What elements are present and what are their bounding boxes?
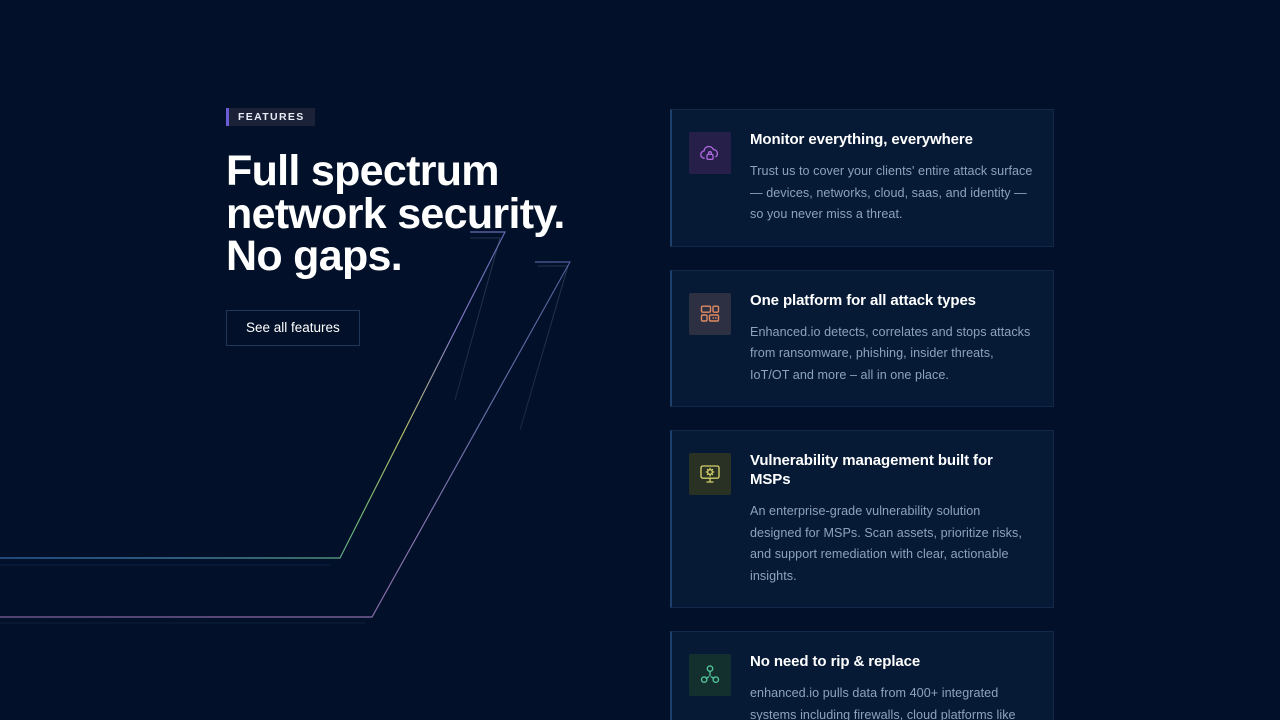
card-body: Vulnerability management built for MSPs … [750,451,1035,587]
card-icon-container [689,132,731,174]
card-description: enhanced.io pulls data from 400+ integra… [750,683,1035,720]
page-title: Full spectrum network security. No gaps. [226,150,626,278]
features-eyebrow-badge: FEATURES [226,108,315,126]
see-all-features-button[interactable]: See all features [226,310,360,347]
card-body: One platform for all attack types Enhanc… [750,291,1035,387]
network-nodes-icon [698,663,722,687]
card-title: One platform for all attack types [750,291,1035,310]
monitor-gear-icon [698,462,722,486]
card-icon-container [689,293,731,335]
cloud-lock-icon [698,141,722,165]
card-icon-container [689,654,731,696]
features-page: FEATURES Full spectrum network security.… [0,0,1280,720]
eyebrow-accent-bar [226,108,229,126]
card-title: Vulnerability management built for MSPs [750,451,1035,489]
eyebrow-label: FEATURES [238,108,305,126]
chevron-arrow-lines-decoration [0,0,1280,720]
feature-cards-list: Monitor everything, everywhere Trust us … [670,109,1054,720]
card-body: No need to rip & replace enhanced.io pul… [750,652,1035,720]
feature-card-no-rip-replace[interactable]: No need to rip & replace enhanced.io pul… [670,631,1054,720]
card-icon-container [689,453,731,495]
hero-column: FEATURES Full spectrum network security.… [226,108,626,346]
feature-card-one-platform[interactable]: One platform for all attack types Enhanc… [670,270,1054,408]
card-title: No need to rip & replace [750,652,1035,671]
feature-card-vulnerability-management[interactable]: Vulnerability management built for MSPs … [670,430,1054,608]
card-title: Monitor everything, everywhere [750,130,1035,149]
card-description: An enterprise-grade vulnerability soluti… [750,501,1035,587]
card-description: Trust us to cover your clients' entire a… [750,161,1035,226]
feature-card-monitor-everything[interactable]: Monitor everything, everywhere Trust us … [670,109,1054,247]
card-body: Monitor everything, everywhere Trust us … [750,130,1035,226]
dashboard-grid-icon [698,302,722,326]
card-description: Enhanced.io detects, correlates and stop… [750,322,1035,387]
